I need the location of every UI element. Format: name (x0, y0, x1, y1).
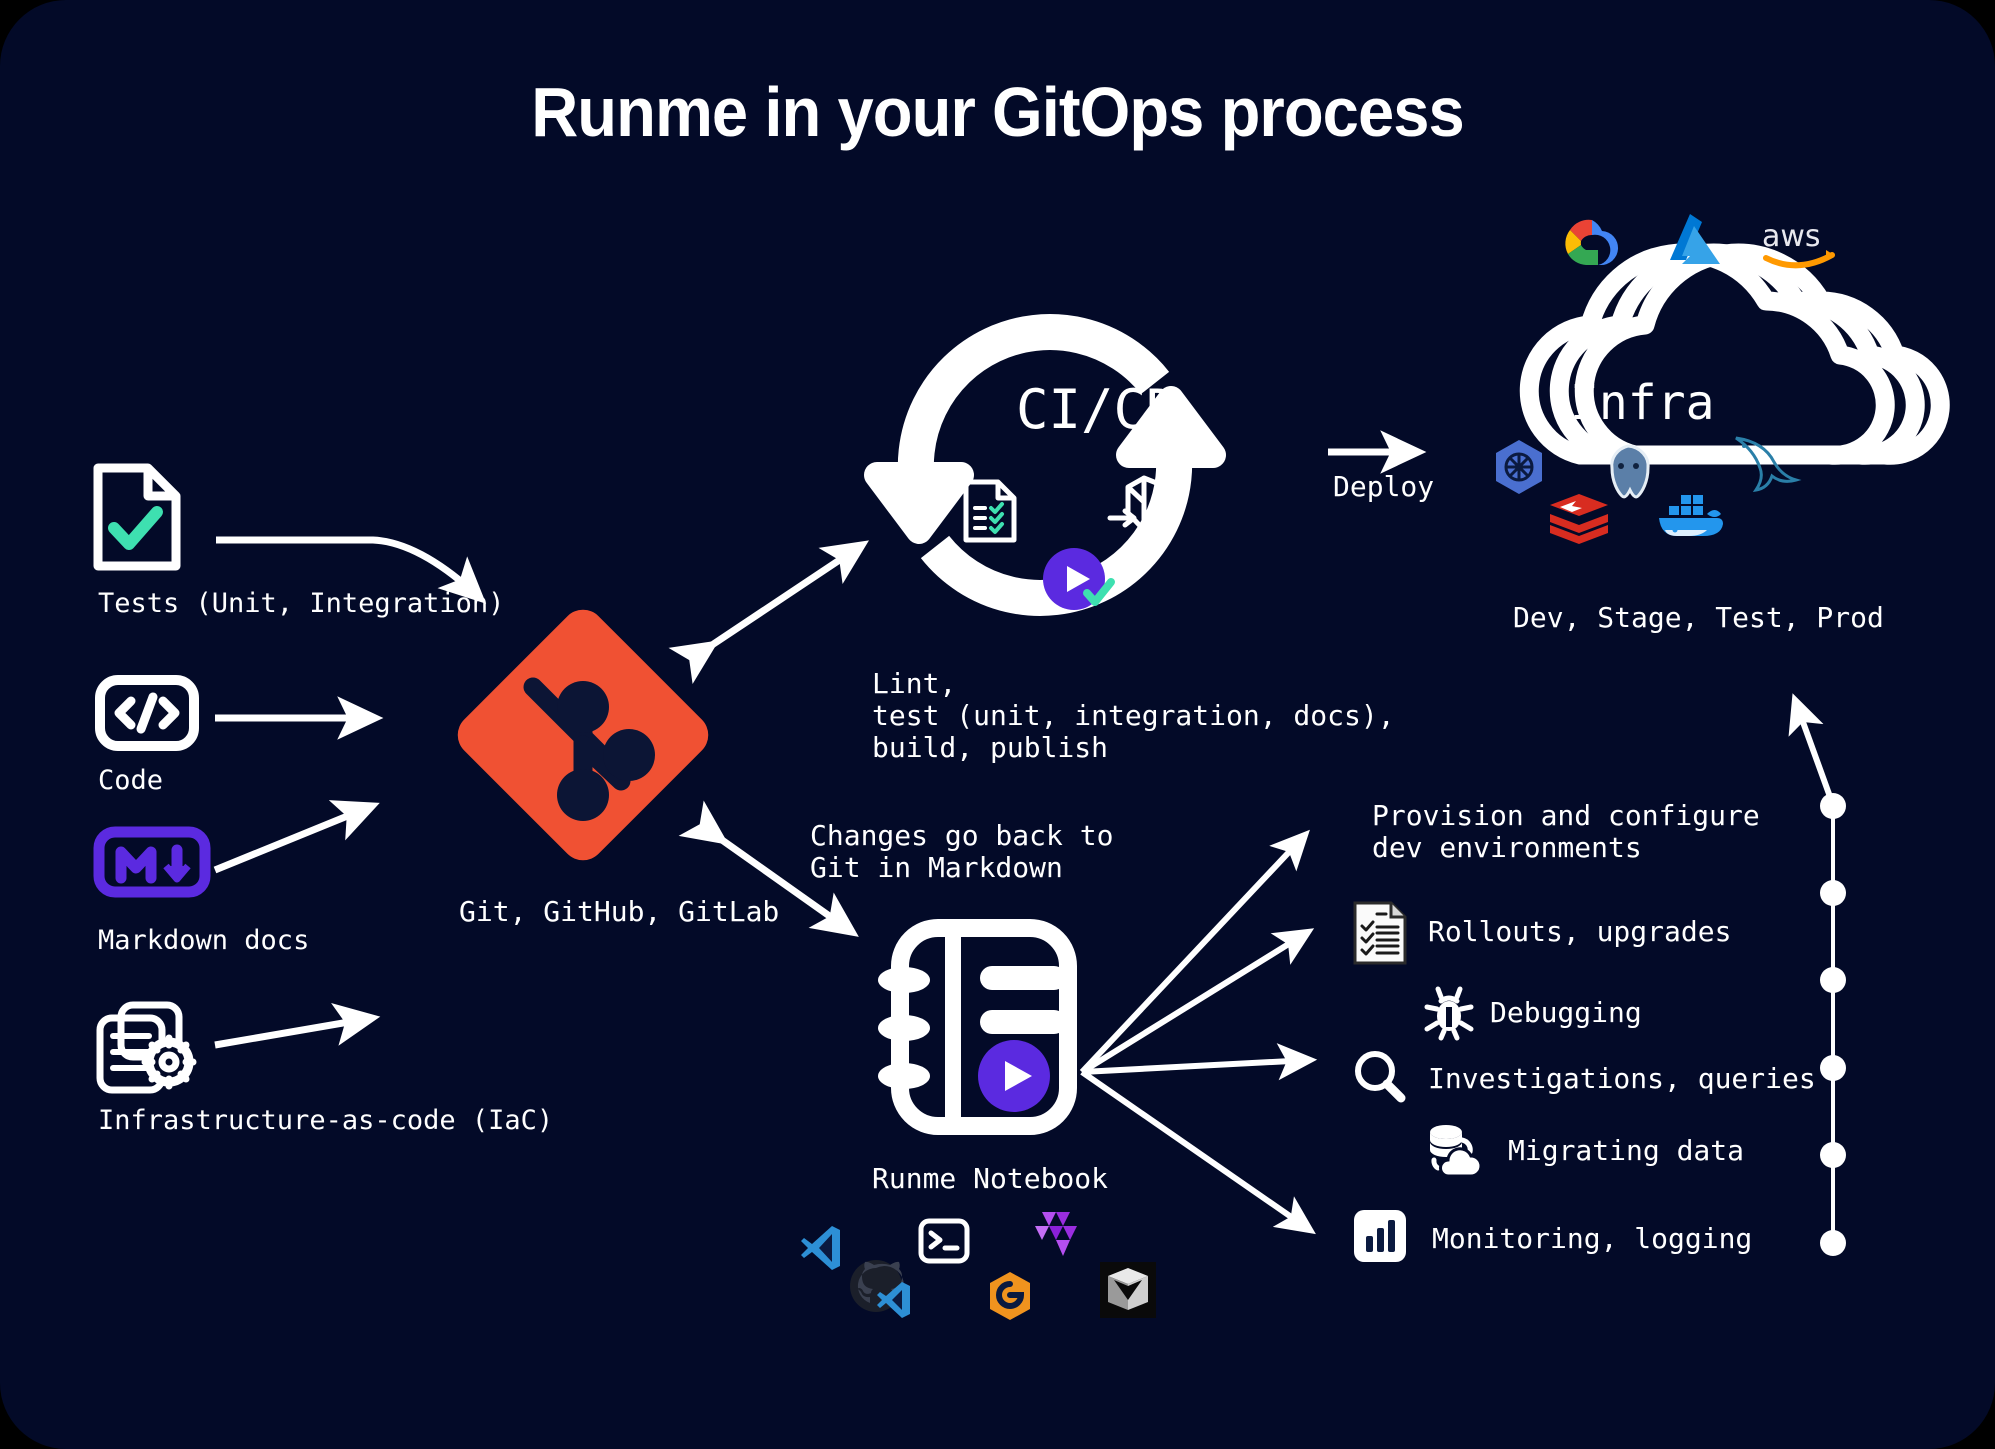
svg-text:aws: aws (1762, 219, 1821, 254)
usecase-label-monitoring: Monitoring, logging (1432, 1222, 1752, 1255)
infra-caption: Dev, Stage, Test, Prod (1513, 601, 1884, 634)
diagram-canvas: Runme in your GitOps process (0, 0, 1995, 1449)
usecase-label-rollouts: Rollouts, upgrades (1428, 915, 1731, 948)
arrow-markdown-to-git (215, 806, 372, 870)
arrow-git-cicd (712, 545, 862, 645)
cicd-title: CI/CD (1016, 378, 1179, 441)
infra-title: Infra (1570, 375, 1715, 431)
arrow-iac-to-git (215, 1018, 372, 1045)
usecase-label-migrating: Migrating data (1508, 1134, 1744, 1167)
cicd-caption: Lint, test (unit, integration, docs), bu… (872, 668, 1395, 764)
usecase-label-investigations: Investigations, queries (1428, 1062, 1816, 1095)
timeline-arrow (1795, 700, 1833, 805)
changes-note: Changes go back to Git in Markdown (810, 820, 1113, 884)
input-label-markdown: Markdown docs (98, 925, 309, 956)
notebook-label: Runme Notebook (872, 1162, 1108, 1195)
input-label-code: Code (98, 765, 163, 796)
usecase-label-debugging: Debugging (1490, 996, 1642, 1029)
git-label: Git, GitHub, GitLab (459, 895, 779, 928)
input-label-iac: Infrastructure-as-code (IaC) (98, 1105, 553, 1136)
deploy-label: Deploy (1333, 470, 1434, 503)
usecase-label-provision: Provision and configure dev environments (1372, 800, 1760, 864)
arrow-notebook-investigations (1082, 1060, 1310, 1072)
arrow-notebook-monitoring (1082, 1072, 1310, 1230)
